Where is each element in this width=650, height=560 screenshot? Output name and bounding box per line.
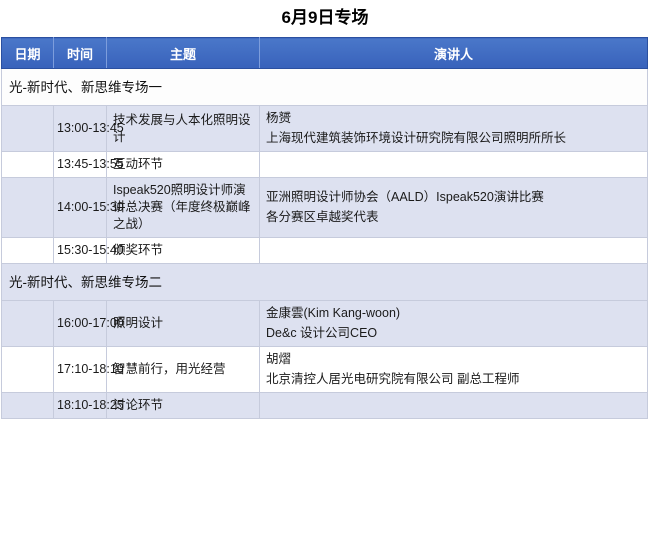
speaker-name: 杨赟 (266, 110, 641, 127)
cell-date (2, 106, 54, 152)
speaker-affiliation: 北京清控人居光电研究院有限公司 副总工程师 (266, 371, 641, 388)
cell-date (2, 347, 54, 393)
cell-date (2, 178, 54, 238)
section-header-label: 光-新时代、新思维专场一 (2, 69, 648, 106)
cell-time: 14:00-15:30 (54, 178, 107, 238)
cell-time: 18:10-18:25 (54, 393, 107, 419)
table-header: 日期 时间 主题 演讲人 (2, 38, 648, 69)
schedule-table: 日期 时间 主题 演讲人 光-新时代、新思维专场一13:00-13:45技术发展… (1, 37, 648, 419)
table-row: 13:45-13:55互动环节 (2, 152, 648, 178)
page-title: 6月9日专场 (0, 0, 650, 37)
cell-speaker: 亚洲照明设计师协会（AALD）Ispeak520演讲比赛各分赛区卓越奖代表 (260, 178, 648, 238)
section-header-label: 光-新时代、新思维专场二 (2, 264, 648, 301)
cell-topic: 讨论环节 (107, 393, 260, 419)
cell-date (2, 393, 54, 419)
cell-speaker: 金康雲(Kim Kang-woon)De&c 设计公司CEO (260, 301, 648, 347)
speaker-name: 亚洲照明设计师协会（AALD）Ispeak520演讲比赛 (266, 189, 641, 206)
section-header-row: 光-新时代、新思维专场二 (2, 264, 648, 301)
column-header-time: 时间 (54, 38, 107, 69)
column-header-date: 日期 (2, 38, 54, 69)
cell-date (2, 152, 54, 178)
speaker-affiliation: 各分赛区卓越奖代表 (266, 209, 641, 226)
cell-topic: 照明设计 (107, 301, 260, 347)
column-header-topic: 主题 (107, 38, 260, 69)
table-row: 15:30-15:40颁奖环节 (2, 238, 648, 264)
cell-date (2, 238, 54, 264)
cell-time: 17:10-18:10 (54, 347, 107, 393)
cell-topic: 技术发展与人本化照明设计 (107, 106, 260, 152)
table-header-row: 日期 时间 主题 演讲人 (2, 38, 648, 69)
table-row: 17:10-18:10智慧前行，用光经营胡熠北京清控人居光电研究院有限公司 副总… (2, 347, 648, 393)
cell-speaker (260, 152, 648, 178)
cell-topic: 智慧前行，用光经营 (107, 347, 260, 393)
cell-speaker (260, 393, 648, 419)
column-header-speaker: 演讲人 (260, 38, 648, 69)
cell-date (2, 301, 54, 347)
cell-speaker (260, 238, 648, 264)
speaker-name: 金康雲(Kim Kang-woon) (266, 305, 641, 322)
table-row: 18:10-18:25讨论环节 (2, 393, 648, 419)
speaker-affiliation: 上海现代建筑装饰环境设计研究院有限公司照明所所长 (266, 130, 641, 147)
cell-topic: 互动环节 (107, 152, 260, 178)
speaker-affiliation: De&c 设计公司CEO (266, 325, 641, 342)
cell-time: 16:00-17:00 (54, 301, 107, 347)
schedule-page: 6月9日专场 日期 时间 主题 演讲人 光-新时代、新思维专场一13:00-13… (0, 0, 650, 560)
cell-topic: 颁奖环节 (107, 238, 260, 264)
cell-speaker: 胡熠北京清控人居光电研究院有限公司 副总工程师 (260, 347, 648, 393)
table-row: 16:00-17:00照明设计金康雲(Kim Kang-woon)De&c 设计… (2, 301, 648, 347)
cell-time: 13:45-13:55 (54, 152, 107, 178)
cell-time: 13:00-13:45 (54, 106, 107, 152)
table-row: 13:00-13:45技术发展与人本化照明设计杨赟上海现代建筑装饰环境设计研究院… (2, 106, 648, 152)
table-row: 14:00-15:30Ispeak520照明设计师演讲总决赛（年度终极巅峰之战）… (2, 178, 648, 238)
cell-time: 15:30-15:40 (54, 238, 107, 264)
cell-topic: Ispeak520照明设计师演讲总决赛（年度终极巅峰之战） (107, 178, 260, 238)
speaker-name: 胡熠 (266, 351, 641, 368)
cell-speaker: 杨赟上海现代建筑装饰环境设计研究院有限公司照明所所长 (260, 106, 648, 152)
section-header-row: 光-新时代、新思维专场一 (2, 69, 648, 106)
table-body: 光-新时代、新思维专场一13:00-13:45技术发展与人本化照明设计杨赟上海现… (2, 69, 648, 419)
